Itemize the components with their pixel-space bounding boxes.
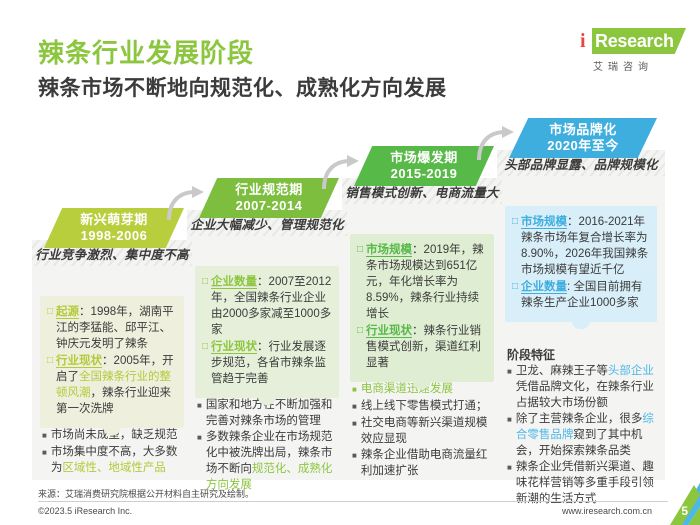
highlighted-term: 区域性、地域性产品 [62, 462, 166, 474]
stage-connector-arrow-1 [165, 186, 205, 224]
stage-fact-item: □市场规模：2016-2021年辣条市场年复合增长率为8.90%，2026年我国… [512, 214, 650, 278]
stage-highlight-card: □起源：1998年，湖南平江的李猛能、邱平江、钟庆元发明了辣条□行业现状：200… [40, 296, 184, 428]
square-bullet-icon: □ [47, 304, 53, 352]
stage-name: 市场爆发期 [390, 150, 458, 166]
stage-fact-text: 行业现状：2005年，开启了全国辣条行业的整顿风潮，辣条行业迎来第一次洗牌 [56, 353, 177, 417]
stage-column-2: 行业规范期2007-2014企业大幅减少、管理规范化□企业数量：2007至201… [187, 178, 347, 480]
square-bullet-icon: ■ [197, 397, 202, 429]
stage-fact-item: □市场规模：2019年，辣条市场规模达到651亿元，年化增长率为8.59%，辣条… [357, 242, 487, 322]
square-bullet-icon: ■ [42, 427, 47, 444]
stage-fact-item: □企业数量：2007至2012年，全国辣条行业企业由2000多家减至1000多家 [202, 274, 332, 338]
stage-column-1: 新兴萌芽期1998-2006行业竞争激烈、集中度不高□起源：1998年，湖南平江… [32, 208, 192, 480]
page-number: 5 [681, 504, 688, 518]
square-bullet-icon: □ [357, 242, 363, 322]
stage-fact-label: 起源 [56, 306, 79, 319]
feature-item: ■社交电商等新兴渠道规模效应显现 [352, 415, 494, 447]
copyright-text: ©2023.5 iResearch Inc. [38, 506, 132, 516]
stage-period: 1998-2006 [81, 228, 148, 244]
stage-fact-label: 行业现状 [56, 355, 102, 368]
square-bullet-icon: □ [512, 279, 518, 311]
stage-fact-label: 行业现状 [211, 341, 257, 354]
feature-text: 线上线下零售模式打通； [361, 398, 494, 415]
feature-item: ■卫龙、麻辣王子等头部企业凭借品牌文化，在辣条行业占据较大市场份额 [507, 363, 657, 411]
feature-text: 社交电商等新兴渠道规模效应显现 [361, 415, 494, 447]
logo-chinese-name: 艾瑞咨询 [593, 58, 685, 73]
stage-header-4: 市场品牌化2020年至今 [509, 118, 657, 158]
page-title: 辣条行业发展阶段 [38, 33, 254, 70]
page-header: 辣条行业发展阶段 辣条市场不断地向规范化、成熟化方向发展 i Research … [0, 0, 700, 110]
page-subtitle: 辣条市场不断地向规范化、成熟化方向发展 [38, 72, 447, 102]
feature-text: 卫龙、麻辣王子等头部企业凭借品牌文化，在辣条行业占据较大市场份额 [516, 363, 657, 411]
stage-fact-text: 行业现状：辣条行业销售模式创新，渠道红利显著 [366, 323, 487, 371]
feature-text: 辣条企业借助电商流量红利加速扩张 [361, 447, 494, 479]
feature-item: ■多数辣条企业在市场规范化中被洗牌出局，辣条市场不断向规范化、成熟化方向发展 [197, 429, 339, 493]
source-note: 来源：艾瑞消费研究院根据公开材料自主研究及绘制。 [38, 487, 254, 500]
feature-item: ■除了主营辣条企业，很多综合零售品牌窥到了其中机会，开始探索辣条品类 [507, 411, 657, 459]
stage-fact-item: □行业现状：行业发展逐步规范，各省市辣条监管趋于完善 [202, 339, 332, 387]
features-list: ■电商渠道迅速发展■线上线下零售模式打通；■社交电商等新兴渠道规模效应显现■辣条… [352, 381, 494, 479]
stage-fact-item: □起源：1998年，湖南平江的李猛能、邱平江、钟庆元发明了辣条 [47, 304, 177, 352]
stage-period: 2007-2014 [236, 198, 303, 214]
footer-divider [38, 501, 668, 502]
stage-fact-item: □行业现状：辣条行业销售模式创新，渠道红利显著 [357, 323, 487, 371]
stage-connector-arrow-3 [475, 126, 515, 164]
stage-fact-text: 起源：1998年，湖南平江的李猛能、邱平江、钟庆元发明了辣条 [56, 304, 177, 352]
square-bullet-icon: ■ [507, 411, 512, 459]
stage-column-3: 市场爆发期2015-2019销售模式创新、电商流量大□市场规模：2019年，辣条… [342, 146, 502, 480]
stage-fact-text: 市场规模：2019年，辣条市场规模达到651亿元，年化增长率为8.59%，辣条行… [366, 242, 487, 322]
stage-header-3: 市场爆发期2015-2019 [354, 146, 494, 186]
corner-decoration [644, 463, 700, 525]
iresearch-logo: i Research 艾瑞咨询 [574, 28, 686, 80]
stage-connector-arrow-2 [320, 155, 360, 193]
features-list: ■卫龙、麻辣王子等头部企业凭借品牌文化，在辣条行业占据较大市场份额■除了主营辣条… [507, 363, 657, 507]
stage-fact-label: 企业数量 [521, 281, 567, 294]
square-bullet-icon: □ [202, 339, 208, 387]
square-bullet-icon: ■ [352, 415, 357, 447]
features-heading: 阶段特征 [507, 346, 555, 363]
highlighted-term: 头部企业 [608, 365, 654, 377]
square-bullet-icon: □ [512, 214, 518, 278]
stage-column-4: 市场品牌化2020年至今头部品牌显露、品牌规模化□市场规模：2016-2021年… [497, 118, 665, 480]
highlighted-term: 综合零售品牌 [516, 413, 654, 441]
stage-header-1: 新兴萌芽期1998-2006 [44, 208, 184, 248]
highlighted-term: 全国辣条行业的整顿风潮 [56, 371, 171, 399]
stage-fact-label: 行业现状 [366, 325, 412, 338]
square-bullet-icon: ■ [507, 363, 512, 411]
stage-fact-item: □企业数量: 全国目前拥有辣条生产企业1000多家 [512, 279, 650, 311]
stage-fact-label: 企业数量 [211, 276, 257, 289]
stage-fact-text: 行业现状：行业发展逐步规范，各省市辣条监管趋于完善 [211, 339, 332, 387]
stage-fact-item: □行业现状：2005年，开启了全国辣条行业的整顿风潮，辣条行业迎来第一次洗牌 [47, 353, 177, 417]
stage-fact-text: 市场规模：2016-2021年辣条市场年复合增长率为8.90%，2026年我国辣… [521, 214, 650, 278]
website-url: www.iresearch.com.cn [562, 506, 652, 516]
feature-text: 除了主营辣条企业，很多综合零售品牌窥到了其中机会，开始探索辣条品类 [516, 411, 657, 459]
stage-fact-label: 市场规模 [521, 216, 567, 229]
square-bullet-icon: □ [357, 323, 363, 371]
stage-highlight-card: □市场规模：2016-2021年辣条市场年复合增长率为8.90%，2026年我国… [505, 206, 657, 322]
stage-header-2: 行业规范期2007-2014 [199, 178, 339, 218]
stage-highlight-card: □企业数量：2007至2012年，全国辣条行业企业由2000多家减至1000多家… [195, 266, 339, 398]
feature-text: 辣条企业凭借新兴渠道、趣味花样营销等多重手段引领新潮的生活方式 [516, 459, 657, 507]
logo-letter-i: i [580, 29, 586, 53]
feature-text: 市场集中度不高，大多数为区域性、地域性产品 [51, 444, 184, 476]
feature-text: 多数辣条企业在市场规范化中被洗牌出局，辣条市场不断向规范化、成熟化方向发展 [206, 429, 339, 493]
feature-item: ■辣条企业凭借新兴渠道、趣味花样营销等多重手段引领新潮的生活方式 [507, 459, 657, 507]
square-bullet-icon: □ [47, 353, 53, 417]
stage-highlight-card: □市场规模：2019年，辣条市场规模达到651亿元，年化增长率为8.59%，辣条… [350, 234, 494, 382]
square-bullet-icon: ■ [507, 459, 512, 507]
square-bullet-icon: ■ [352, 381, 357, 398]
stage-fact-label: 市场规模 [366, 244, 412, 257]
stage-period: 2015-2019 [391, 166, 458, 182]
stage-fact-text: 企业数量：2007至2012年，全国辣条行业企业由2000多家减至1000多家 [211, 274, 332, 338]
stage-name: 行业规范期 [235, 182, 303, 198]
feature-item: ■辣条企业借助电商流量红利加速扩张 [352, 447, 494, 479]
stage-name: 市场品牌化 [549, 122, 617, 138]
stage-fact-text: 企业数量: 全国目前拥有辣条生产企业1000多家 [521, 279, 650, 311]
feature-item: ■线上线下零售模式打通； [352, 398, 494, 415]
stage-period: 2020年至今 [547, 138, 618, 154]
square-bullet-icon: ■ [197, 429, 202, 493]
stage-name: 新兴萌芽期 [80, 212, 148, 228]
square-bullet-icon: ■ [352, 398, 357, 415]
logo-wordmark: Research [595, 29, 674, 53]
square-bullet-icon: ■ [352, 447, 357, 479]
square-bullet-icon: □ [202, 274, 208, 338]
square-bullet-icon: ■ [42, 444, 47, 476]
features-list: ■国家和地方在不断加强和完善对辣条市场的管理■多数辣条企业在市场规范化中被洗牌出… [197, 397, 339, 493]
feature-item: ■市场集中度不高，大多数为区域性、地域性产品 [42, 444, 184, 476]
